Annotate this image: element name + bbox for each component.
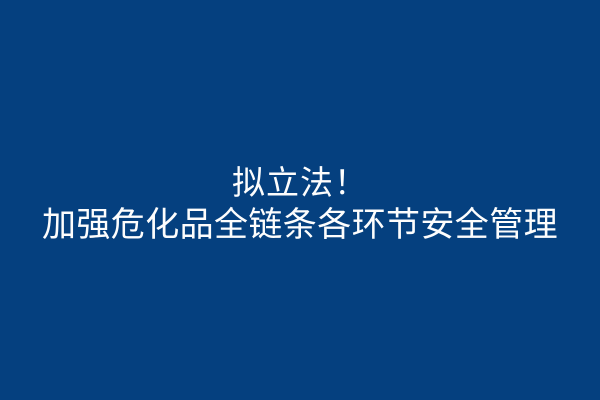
headline-text-block: 拟立法！ 加强危化品全链条各环节安全管理	[0, 162, 600, 246]
headline-line-1: 拟立法！	[232, 162, 368, 204]
headline-card: 拟立法！ 加强危化品全链条各环节安全管理	[0, 0, 600, 400]
headline-line-2: 加强危化品全链条各环节安全管理	[42, 204, 558, 246]
